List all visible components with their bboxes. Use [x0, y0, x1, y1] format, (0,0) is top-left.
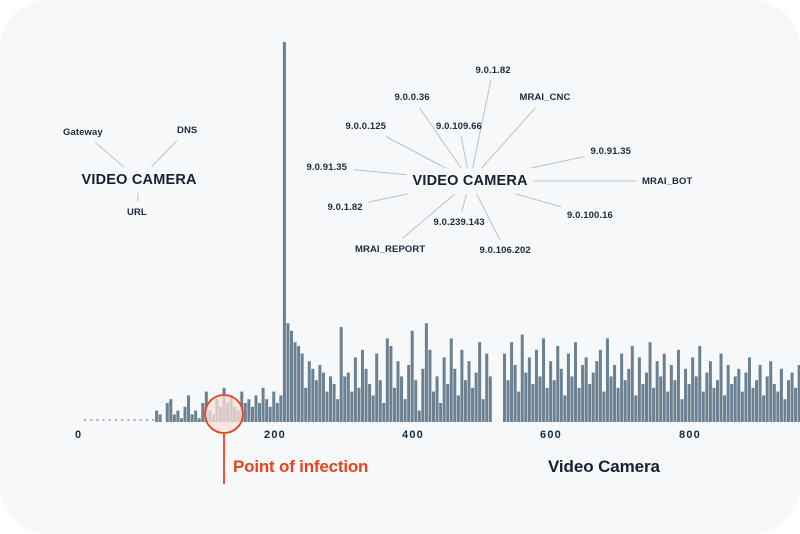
cluster-node-label[interactable]: MRAI_REPORT — [355, 244, 425, 255]
cluster-edge — [419, 108, 461, 169]
cluster-edge — [531, 157, 584, 168]
cluster-edge — [386, 137, 446, 169]
cluster-edge — [482, 108, 536, 169]
cluster-node-label[interactable]: 9.0.91.35 — [591, 146, 632, 157]
cluster-edge — [461, 137, 467, 169]
cluster-node-label[interactable]: 9.0.91.35 — [307, 162, 348, 173]
cluster-node-label[interactable]: 9.0.100.16 — [567, 210, 613, 221]
cluster-node-label[interactable]: 9.0.1.82 — [328, 202, 363, 213]
point-of-infection-label: Point of infection — [233, 457, 368, 477]
x-axis-tick: 0 — [75, 429, 82, 441]
cluster-edge — [516, 194, 561, 207]
cluster-edge — [369, 194, 408, 202]
cluster-hub-label: VIDEO CAMERA — [413, 173, 528, 189]
cluster-node-label[interactable]: URL — [127, 207, 147, 218]
series-name-label: Video Camera — [548, 457, 660, 477]
cluster-node-label[interactable]: MRAI_BOT — [642, 176, 692, 187]
cluster-node-label[interactable]: 9.0.106.202 — [480, 245, 531, 256]
cluster-node-label[interactable]: DNS — [177, 125, 197, 136]
x-axis-tick: 600 — [540, 429, 562, 441]
chart-card: VIDEO CAMERAGatewayDNSURLVIDEO CAMERA9.0… — [0, 0, 800, 534]
cluster-hub-label: VIDEO CAMERA — [82, 172, 197, 188]
cluster-connectors — [0, 0, 800, 534]
cluster-edge — [151, 141, 176, 168]
cluster-node-label[interactable]: 9.0.109.66 — [436, 121, 482, 132]
cluster-node-label[interactable]: 9.0.0.36 — [395, 92, 430, 103]
cluster-edge — [354, 170, 407, 175]
cluster-node-label[interactable]: 9.0.0.125 — [346, 121, 387, 132]
x-axis-tick: 800 — [679, 429, 701, 441]
cluster-edge — [462, 194, 467, 212]
cluster-edge — [95, 143, 124, 168]
cluster-node-label[interactable]: MRAI_CNC — [520, 92, 571, 103]
x-axis-tick: 400 — [402, 429, 424, 441]
cluster-node-label[interactable]: 9.0.1.82 — [476, 65, 511, 76]
x-axis-tick: 200 — [264, 429, 286, 441]
cluster-edge — [138, 193, 139, 202]
cluster-node-label[interactable]: 9.0.239.143 — [434, 217, 485, 228]
cluster-node-label[interactable]: Gateway — [63, 127, 103, 138]
chart-stage: VIDEO CAMERAGatewayDNSURLVIDEO CAMERA9.0… — [0, 0, 800, 534]
